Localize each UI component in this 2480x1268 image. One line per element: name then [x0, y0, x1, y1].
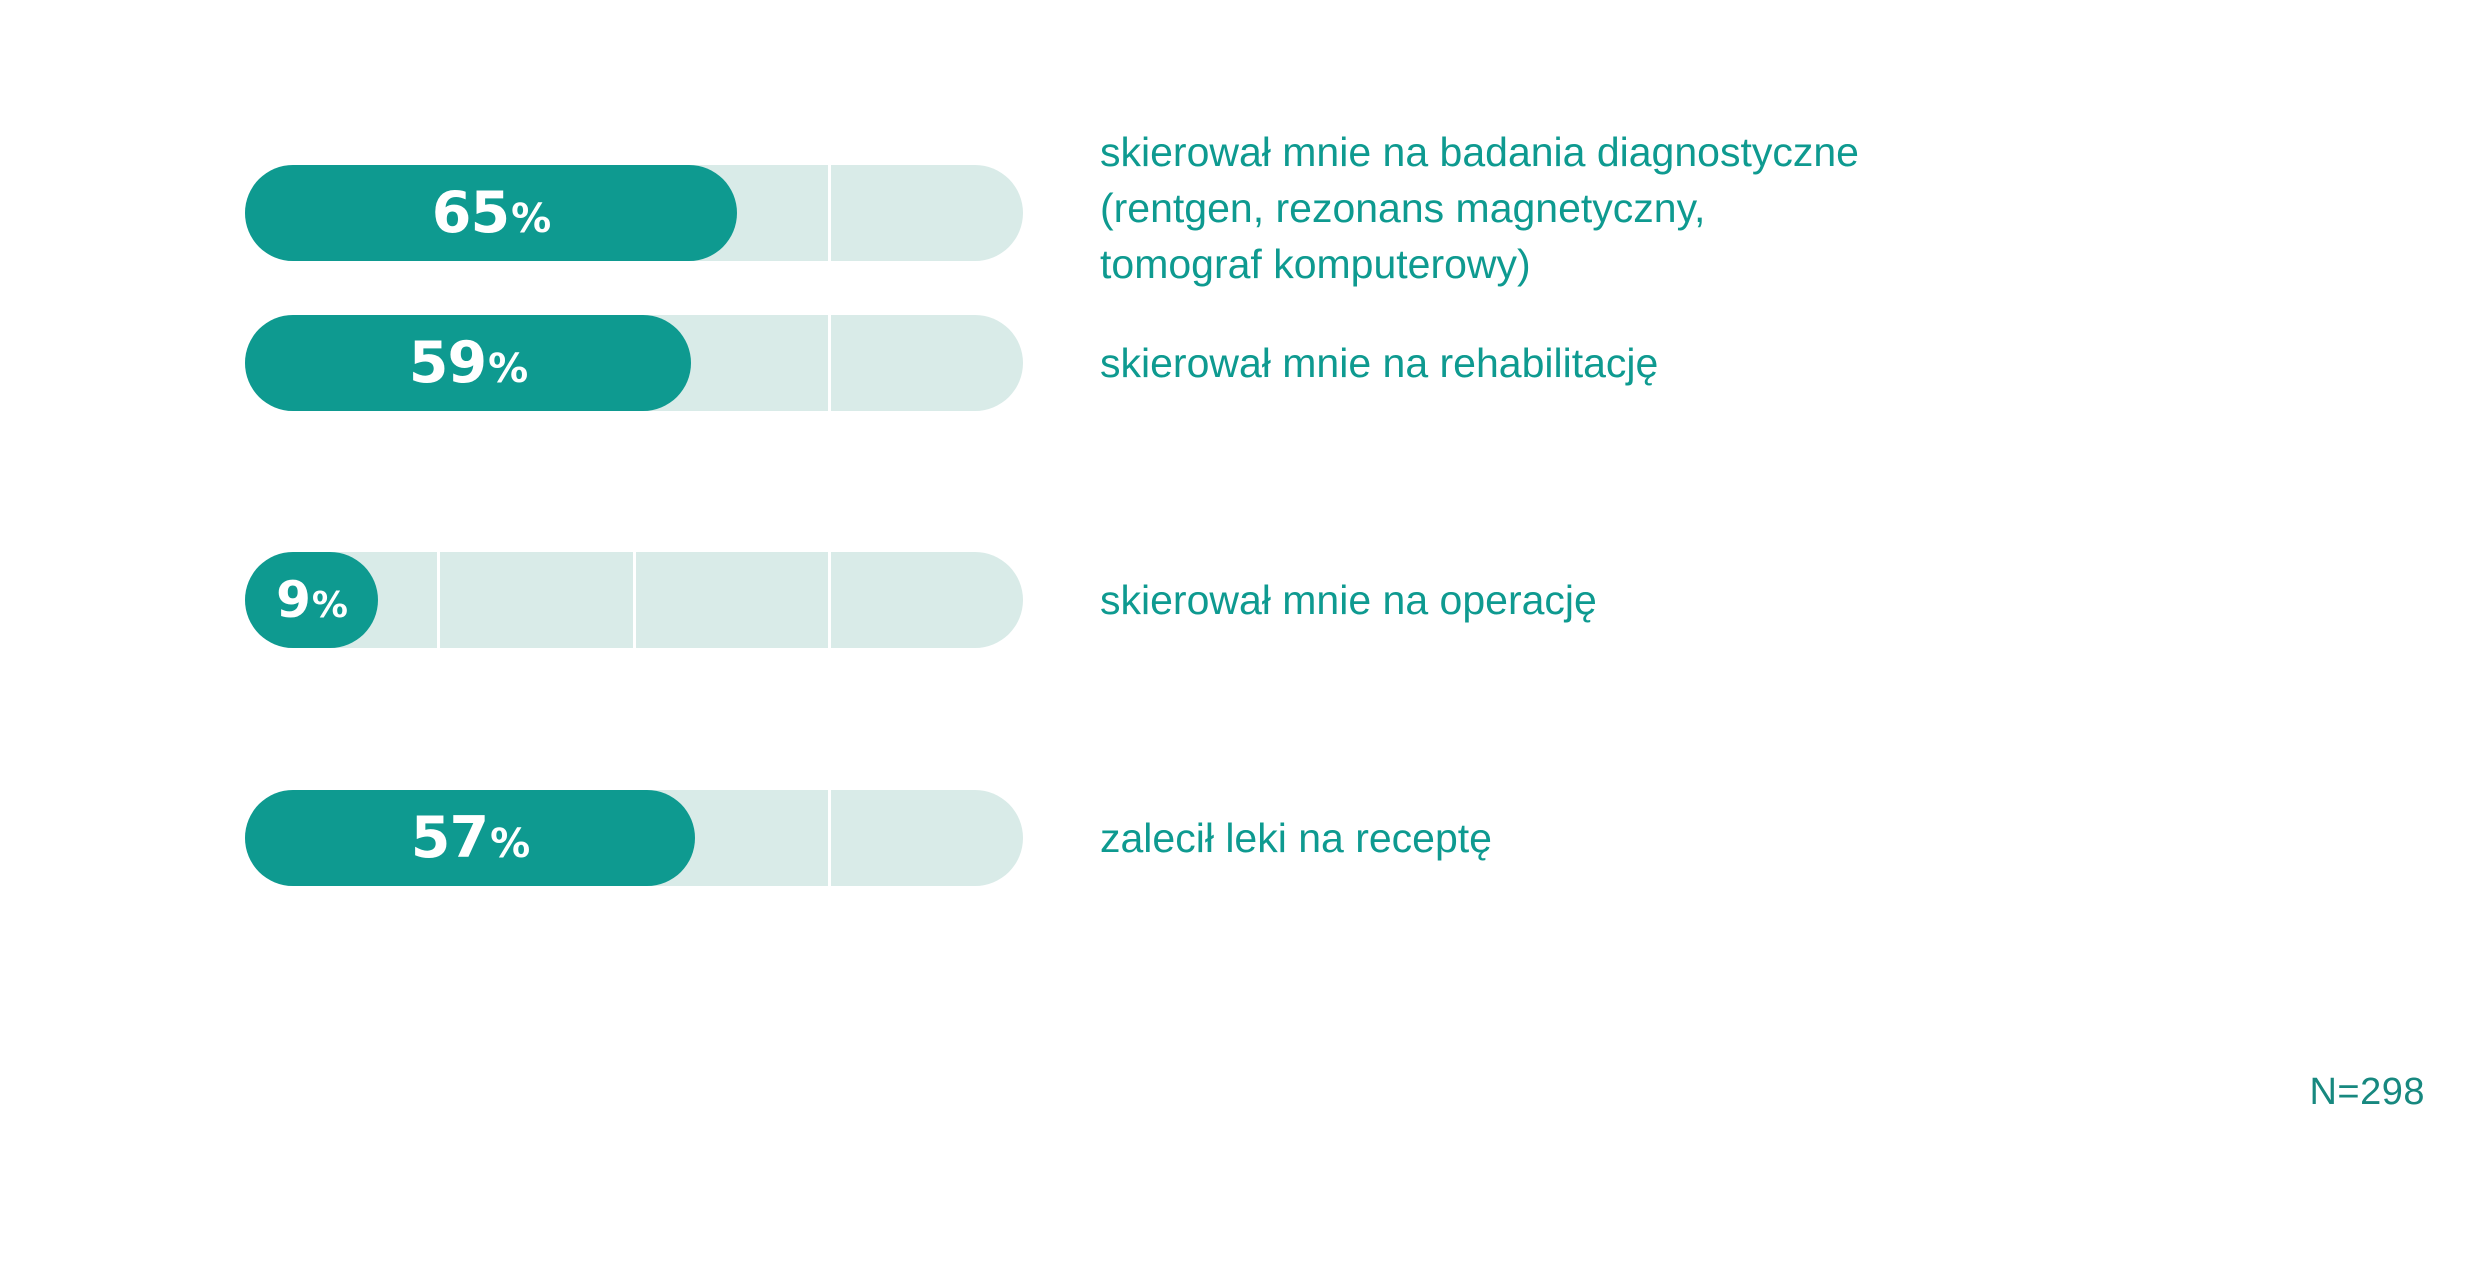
- track-segment: [636, 552, 831, 648]
- bar-fill: 57%: [245, 790, 695, 886]
- bar-value-label: 9%: [276, 575, 347, 625]
- track-segment: [831, 165, 1023, 261]
- bar-category-label: skierował mnie na rehabilitację: [1100, 335, 1658, 391]
- bar-category-label: skierował mnie na operację: [1100, 572, 1597, 628]
- bar-value-label: 65%: [432, 185, 550, 242]
- bar-category-label: zalecił leki na receptę: [1100, 810, 1492, 866]
- bar-fill: 59%: [245, 315, 691, 411]
- track-segment: [831, 315, 1023, 411]
- track-segment: [440, 552, 635, 648]
- bar-fill: 9%: [245, 552, 378, 648]
- bar-category-label: skierował mnie na badania diagnostyczne …: [1100, 124, 1859, 292]
- track-segment: [831, 552, 1023, 648]
- infographic-bar-chart: 65% skierował mnie na badania diagnostyc…: [0, 0, 2480, 1268]
- bar-value-label: 57%: [411, 810, 529, 867]
- track-segment: [831, 790, 1023, 886]
- bar-fill: 65%: [245, 165, 737, 261]
- bar-rows: 65% skierował mnie na badania diagnostyc…: [0, 0, 2480, 1268]
- bar-value-label: 59%: [409, 335, 527, 392]
- sample-size-note: N=298: [2309, 1073, 2425, 1111]
